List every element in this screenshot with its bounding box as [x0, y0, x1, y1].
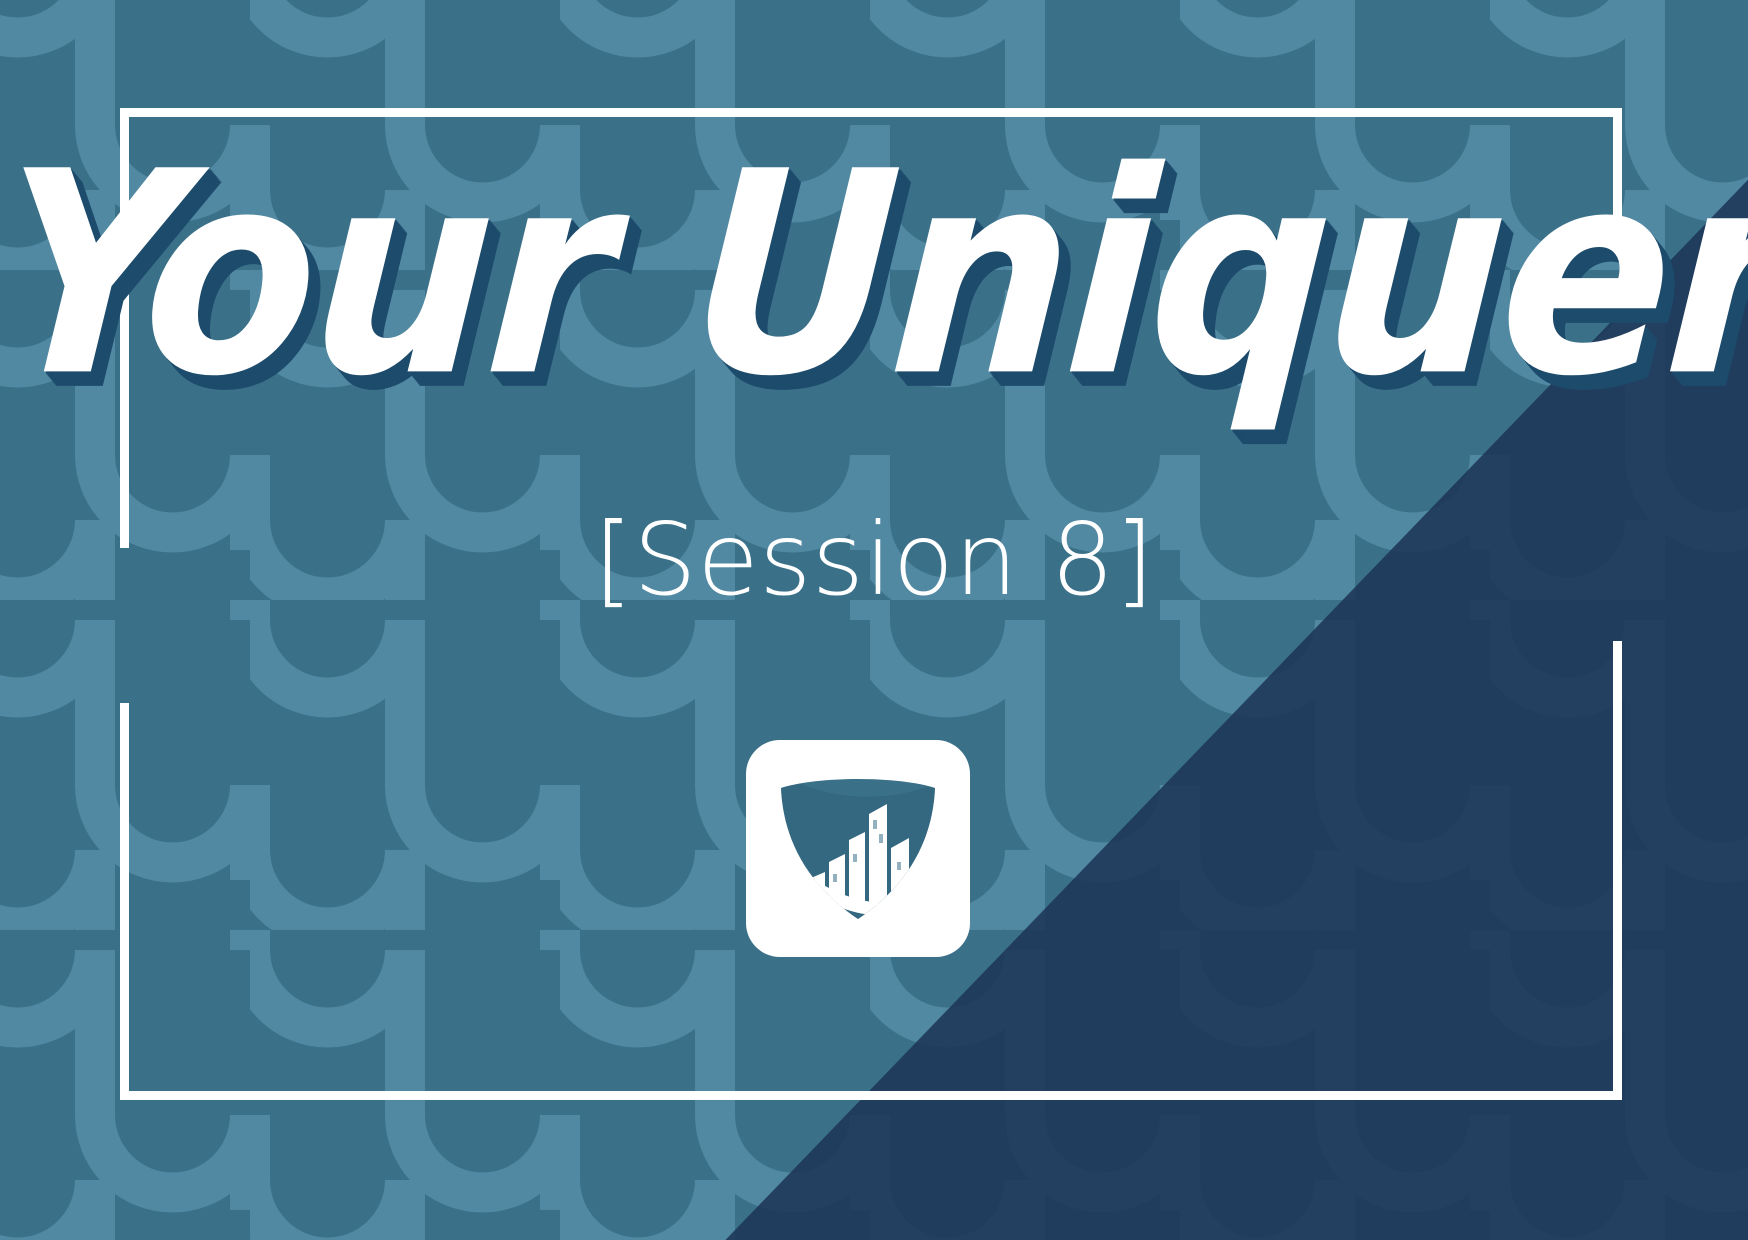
slide-subtitle: [Session 8]: [594, 505, 1154, 615]
logo-tile: [746, 740, 970, 957]
subtitle-container: [Session 8]: [0, 505, 1748, 615]
slide-content: Your Uniqueness [Session 8]: [0, 0, 1748, 1240]
slide-title: Your Uniqueness: [0, 135, 1748, 415]
title-container: Your Uniqueness: [0, 150, 1748, 400]
shield-skyline-logo: [773, 774, 943, 924]
presentation-slide: Your Uniqueness [Session 8]: [0, 0, 1748, 1240]
